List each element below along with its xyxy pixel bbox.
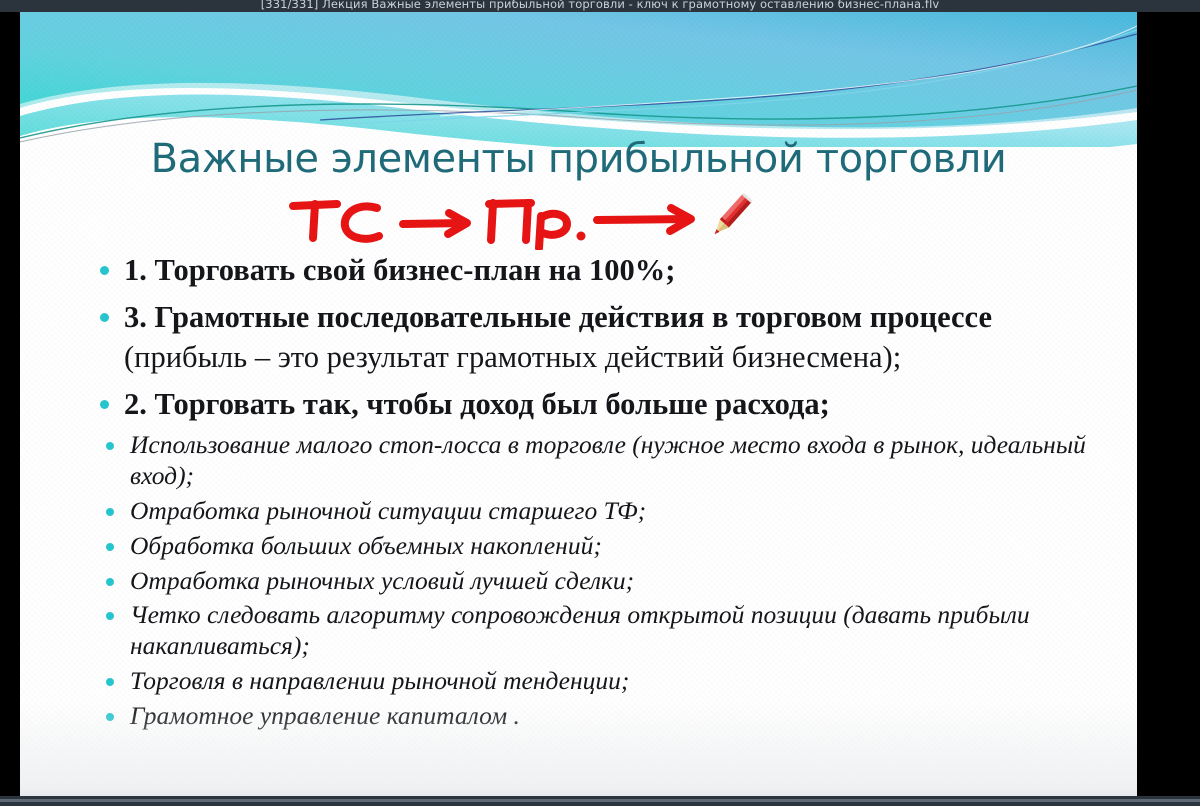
list-item: Торговля в направлении рыночной тенденци… — [82, 666, 1122, 697]
red-ink-annotation — [285, 190, 715, 250]
player-bottom-bar[interactable] — [0, 796, 1200, 806]
list-item: 2. Торговать так, чтобы доход был больше… — [82, 384, 1122, 425]
bullet-dot-icon — [100, 313, 109, 322]
slide-title: Важные элементы прибыльной торговли — [20, 136, 1137, 182]
list-item-text: Отработка рыночных условий лучшей сделки… — [130, 566, 1122, 597]
seek-bar-fill — [0, 799, 1200, 802]
list-item: Грамотное управление капиталом . — [82, 701, 1122, 732]
list-item: Обработка больших объемных накоплений; — [82, 531, 1122, 562]
window-title: [331/331] Лекция Важные элементы прибыль… — [0, 0, 1200, 11]
video-player: [331/331] Лекция Важные элементы прибыль… — [0, 0, 1200, 806]
list-item-bold-text: 2. Торговать так, чтобы доход был больше… — [124, 387, 830, 421]
bullet-dot-icon — [100, 266, 109, 275]
list-item: Использование малого стоп-лосса в торгов… — [82, 430, 1122, 492]
list-item-text: Отработка рыночной ситуации старшего ТФ; — [130, 496, 1122, 527]
list-item: 1. Торговать свой бизнес-план на 100%; — [82, 250, 1122, 291]
window-titlebar: [331/331] Лекция Важные элементы прибыль… — [0, 0, 1200, 12]
list-item-text: Грамотное управление капиталом . — [130, 701, 1122, 732]
slide-canvas: Важные элементы прибыльной торговли — [20, 12, 1137, 796]
list-item-text: Использование малого стоп-лосса в торгов… — [130, 430, 1122, 492]
list-item: 3. Грамотные последовательные действия в… — [82, 297, 1122, 378]
bullet-dot-icon — [100, 400, 109, 409]
list-item-text: Четко следовать алгоритму сопровождения … — [130, 600, 1122, 662]
header-wave-decoration — [20, 12, 1137, 147]
bullet-dot-icon — [106, 508, 114, 516]
bullet-dot-icon — [106, 543, 114, 551]
pencil-cursor-icon — [708, 190, 754, 242]
bullet-dot-icon — [106, 578, 114, 586]
list-item-text: Торговля в направлении рыночной тенденци… — [130, 666, 1122, 697]
list-item: Отработка рыночных условий лучшей сделки… — [82, 566, 1122, 597]
bullet-list: 1. Торговать свой бизнес-план на 100%; 3… — [82, 250, 1122, 736]
list-item-bold-text: 1. Торговать свой бизнес-план на 100%; — [124, 253, 675, 287]
bullet-dot-icon — [106, 713, 114, 721]
bullet-dot-icon — [106, 678, 114, 686]
seek-bar[interactable] — [0, 799, 1200, 802]
list-item-bold-text: 3. Грамотные последовательные действия в… — [124, 300, 992, 334]
list-item-normal-text: (прибыль – это результат грамотных дейст… — [124, 340, 901, 374]
list-item: Отработка рыночной ситуации старшего ТФ; — [82, 496, 1122, 527]
list-item: Четко следовать алгоритму сопровождения … — [82, 600, 1122, 662]
bullet-dot-icon — [106, 612, 114, 620]
list-item-text: Обработка больших объемных накоплений; — [130, 531, 1122, 562]
bullet-dot-icon — [106, 442, 114, 450]
